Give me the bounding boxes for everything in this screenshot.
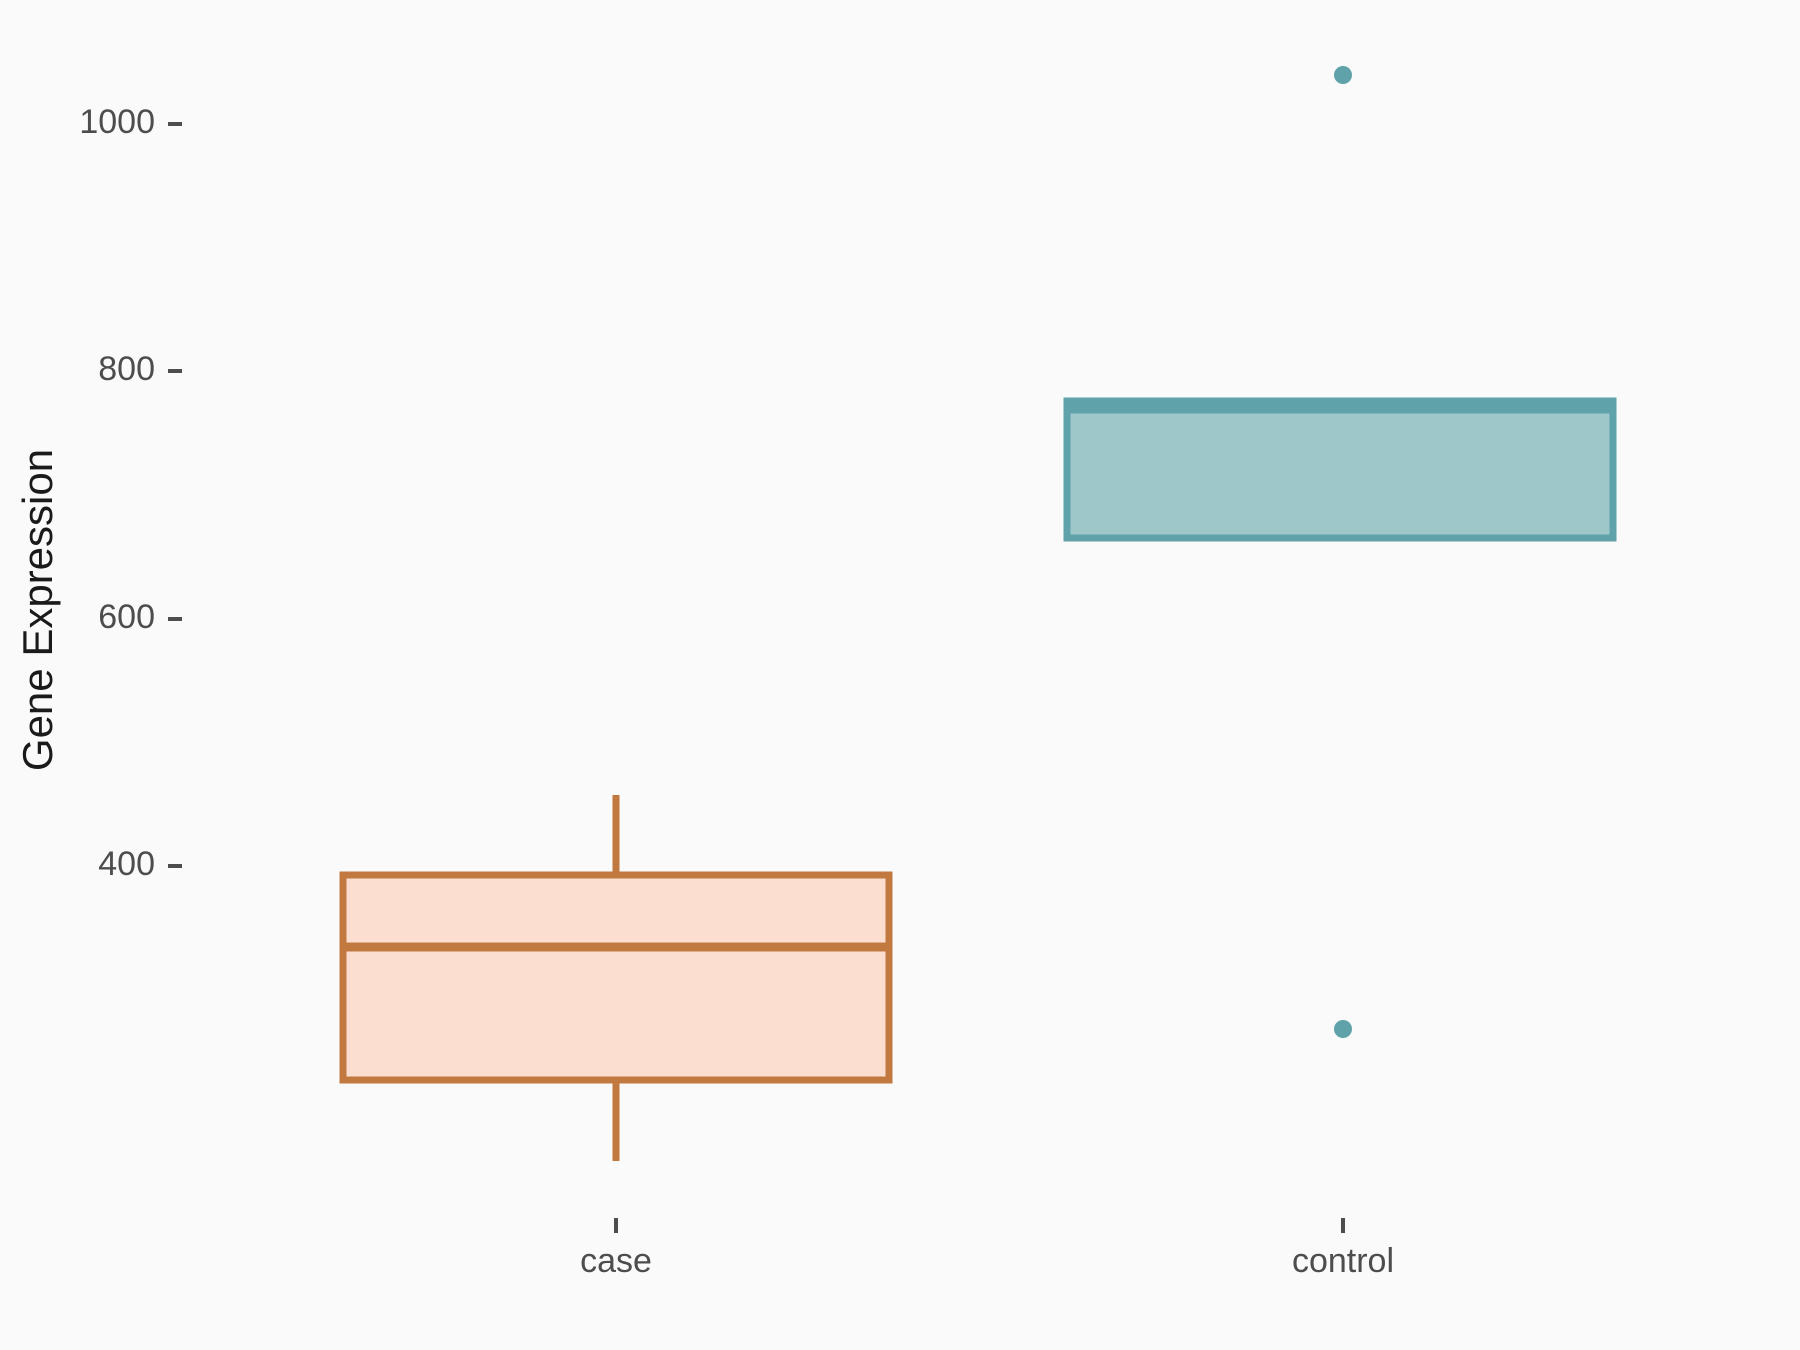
case-box[interactable] — [343, 875, 889, 1080]
y-axis-title: Gene Expression — [14, 449, 61, 771]
panel-background — [0, 0, 1800, 1350]
y-tick-label-800: 800 — [98, 350, 155, 388]
y-tick-label-600: 600 — [98, 598, 155, 636]
x-tick-label-case: case — [580, 1242, 652, 1280]
control-box[interactable] — [1067, 401, 1613, 538]
control-outlier-point[interactable] — [1334, 1020, 1352, 1038]
y-tick-label-400: 400 — [98, 845, 155, 883]
y-tick-label-1000: 1000 — [79, 103, 155, 141]
chart-root: 1000 800 600 400 Gene Expression — [0, 0, 1800, 1350]
control-outlier-point[interactable] — [1334, 66, 1352, 84]
x-tick-label-control: control — [1292, 1242, 1394, 1280]
boxplot-figure: 1000 800 600 400 Gene Expression — [0, 0, 1800, 1350]
